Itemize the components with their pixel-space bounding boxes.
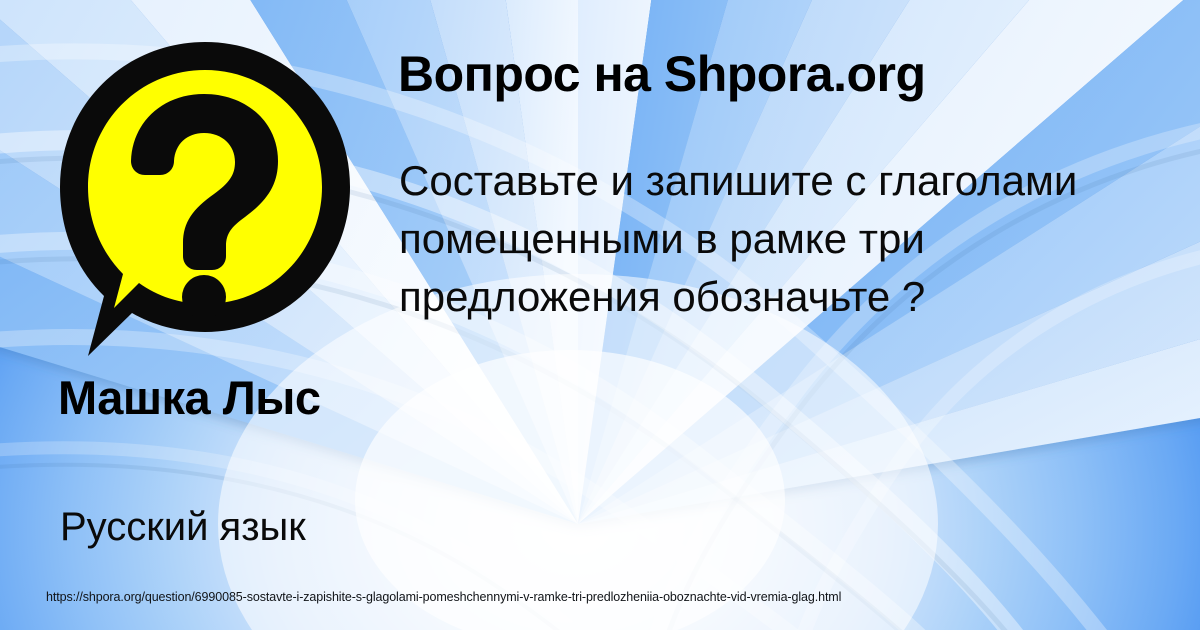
question-share-card: Машка Лыс Русский язык Вопрос на Shpora.…	[0, 0, 1200, 630]
page-title: Вопрос на Shpora.org	[398, 47, 1138, 101]
question-text: Составьте и запишите с глаголами помещен…	[399, 152, 1121, 326]
author-name: Машка Лыс	[58, 372, 388, 424]
subject-label: Русский язык	[60, 505, 400, 549]
question-speech-bubble-icon	[52, 34, 358, 364]
source-url[interactable]: https://shpora.org/question/6990085-sost…	[46, 590, 841, 604]
